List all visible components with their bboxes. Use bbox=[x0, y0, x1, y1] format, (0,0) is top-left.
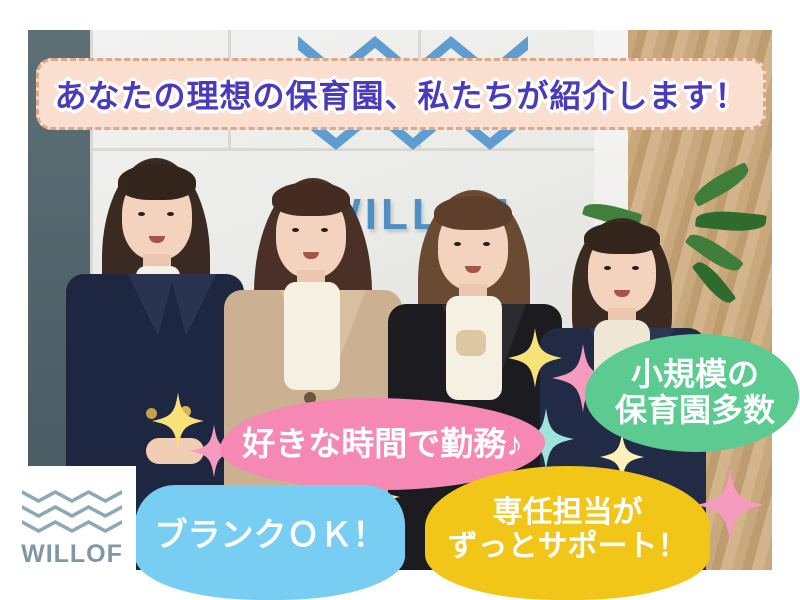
bubble-small-nursery-line1: 小規模の bbox=[631, 357, 759, 393]
willof-wave-icon bbox=[22, 520, 122, 533]
bubble-support-line1: 専任担当が bbox=[493, 496, 643, 530]
advertisement-banner: WILLOF bbox=[0, 0, 800, 600]
bubble-small-nursery: 小規模の 保育園多数 bbox=[585, 334, 799, 452]
willof-wave-icon bbox=[22, 490, 122, 503]
headline-text: あなたの理想の保育園、私たちが紹介します！ bbox=[54, 71, 747, 117]
bubble-blank-ok: ブランクＯＫ！ bbox=[135, 485, 405, 600]
bubble-support: 専任担当が ずっとサポート！ bbox=[425, 466, 710, 600]
bubble-small-nursery-line2: 保育園多数 bbox=[615, 393, 775, 429]
headline-banner: あなたの理想の保育園、私たちが紹介します！ bbox=[36, 58, 766, 130]
willof-logo-badge: WILLOF bbox=[8, 466, 136, 592]
willof-wave-icon bbox=[22, 505, 122, 518]
bubble-blank-ok-line1: ブランクＯＫ！ bbox=[155, 517, 386, 554]
willof-wordmark: WILLOF bbox=[21, 540, 123, 569]
bubble-support-line2: ずっとサポート！ bbox=[448, 530, 688, 564]
bubble-flexible-hours-line1: 好きな時間で勤務♪ bbox=[242, 426, 523, 463]
